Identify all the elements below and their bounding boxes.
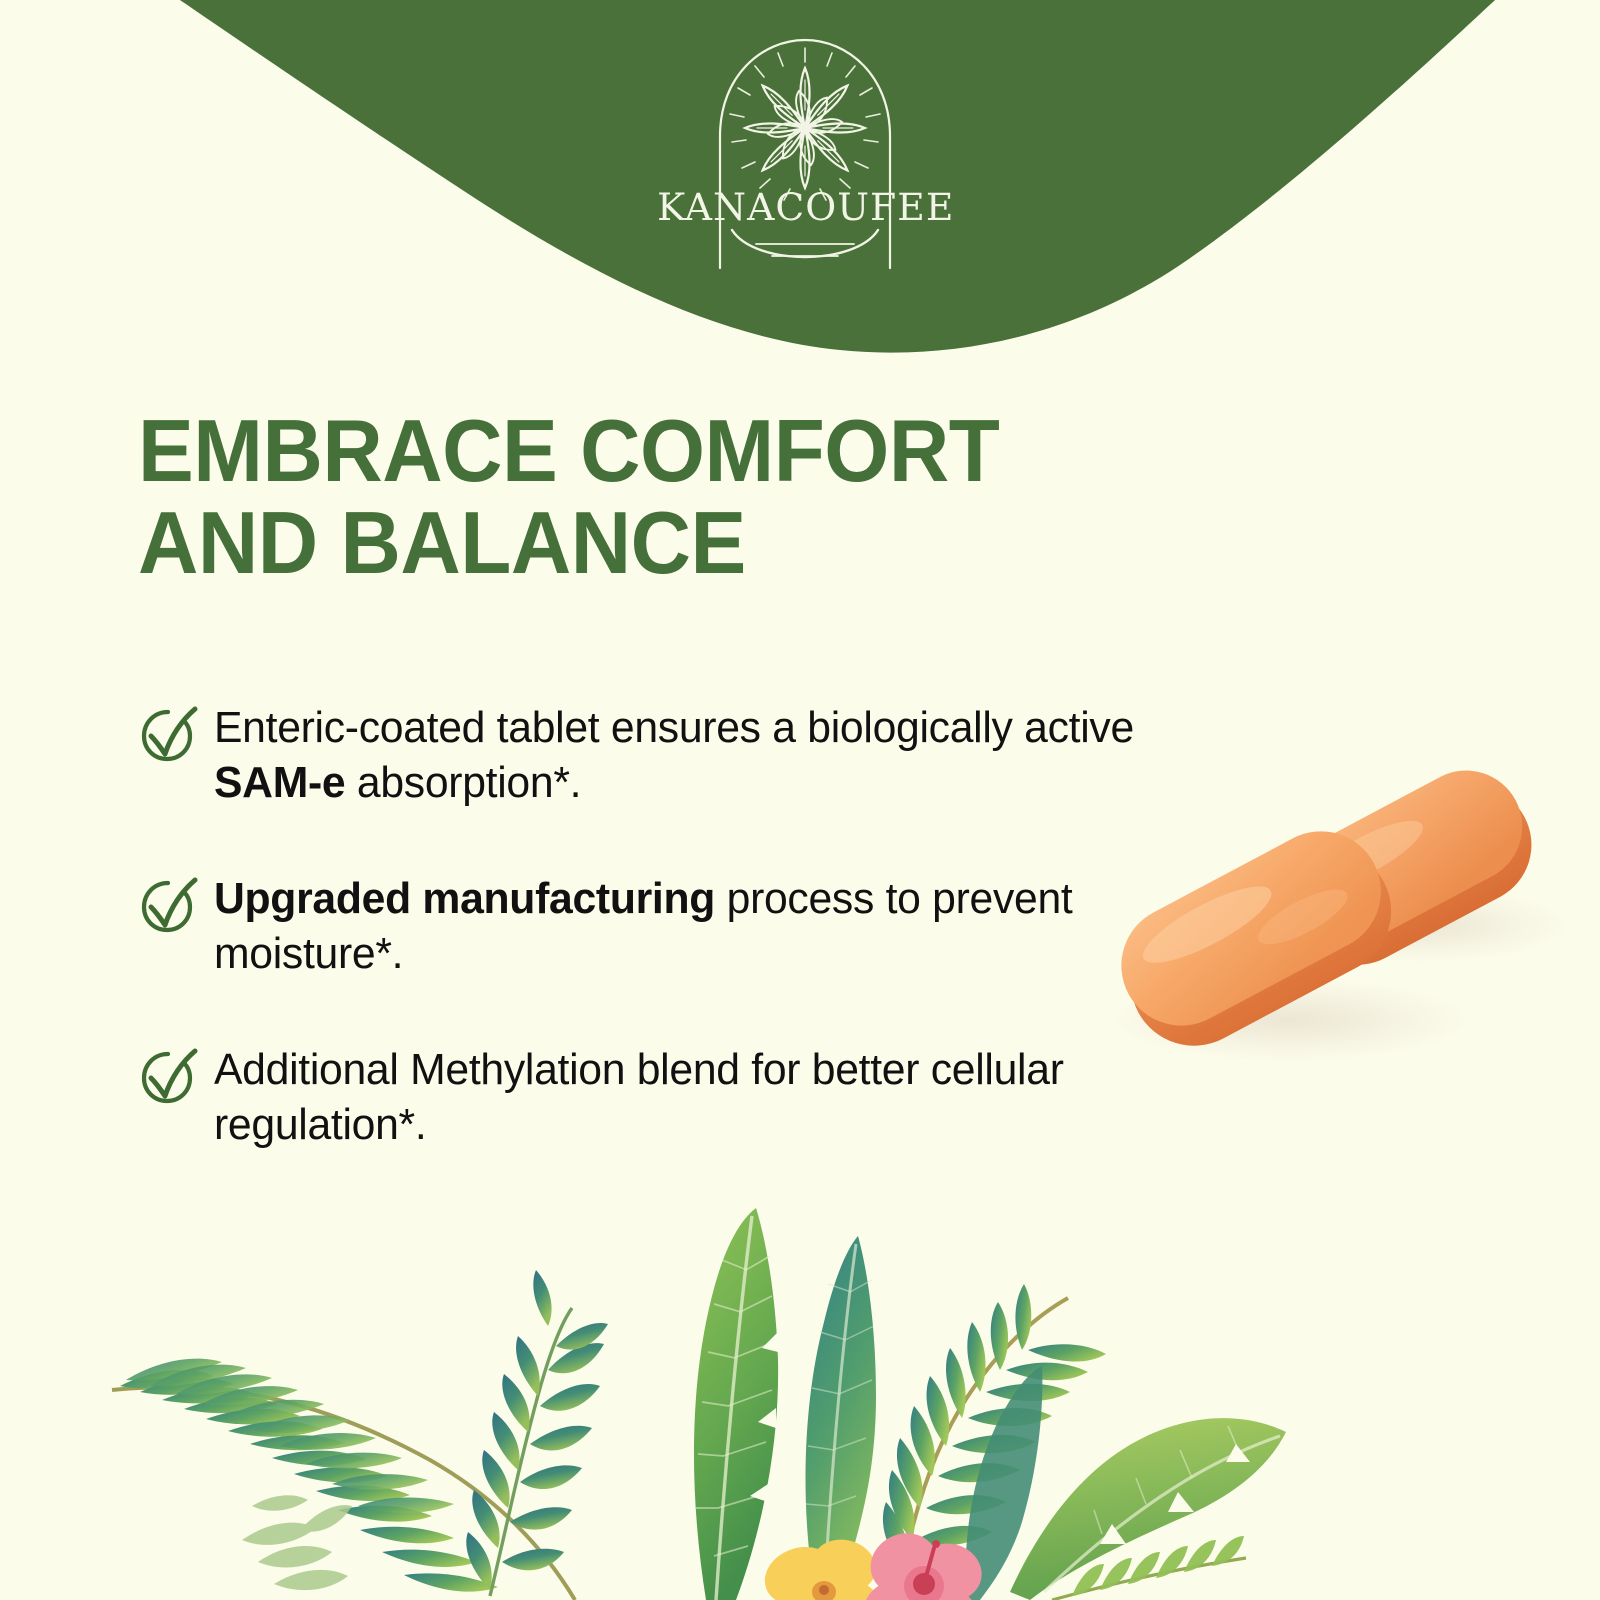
banana-leaf-tall-left <box>694 1208 778 1600</box>
emphasis-text: SAM-e <box>214 758 345 807</box>
brand-wordmark: KANACOUFEE <box>657 186 953 229</box>
plain-text: Additional Methylation blend for better … <box>214 1045 1064 1149</box>
plain-text: Enteric-coated tablet ensures a biologic… <box>214 703 1134 752</box>
list-item-text: Additional Methylation blend for better … <box>214 1042 1168 1153</box>
list-item: Upgraded manufacturing process to preven… <box>138 871 1198 982</box>
check-circle-icon <box>138 704 200 766</box>
yellow-hibiscus <box>757 1533 890 1600</box>
headline-line-2: AND BALANCE <box>138 497 1088 589</box>
teal-pointed-leaf-center <box>806 1236 876 1600</box>
teal-leaf-stem <box>466 1270 608 1596</box>
fern-right-low <box>1052 1536 1246 1600</box>
page-title: EMBRACE COMFORT AND BALANCE <box>138 405 1088 590</box>
palm-frond-right <box>883 1284 1106 1600</box>
list-item-text: Upgraded manufacturing process to preven… <box>214 871 1168 982</box>
palm-frond-left <box>112 1359 575 1600</box>
teal-leaf-right <box>965 1366 1042 1600</box>
list-item: Enteric-coated tablet ensures a biologic… <box>138 700 1198 811</box>
check-circle-icon <box>138 875 200 937</box>
list-item: Additional Methylation blend for better … <box>138 1042 1198 1153</box>
tropical-foliage-decoration <box>0 1200 1600 1600</box>
emphasis-text: Upgraded manufacturing <box>214 874 715 923</box>
feature-bullet-list: Enteric-coated tablet ensures a biologic… <box>138 700 1198 1153</box>
brand-logo: KANACOUFEE <box>660 18 950 278</box>
orange-tablets-image <box>1040 690 1580 1090</box>
plain-text: absorption*. <box>345 758 581 807</box>
check-circle-icon <box>138 1046 200 1108</box>
pink-hibiscus <box>860 1523 989 1600</box>
headline-line-1: EMBRACE COMFORT <box>138 405 1088 497</box>
list-item-text: Enteric-coated tablet ensures a biologic… <box>214 700 1168 811</box>
banana-leaf-right <box>1010 1418 1286 1600</box>
olive-sprig <box>242 1495 352 1590</box>
